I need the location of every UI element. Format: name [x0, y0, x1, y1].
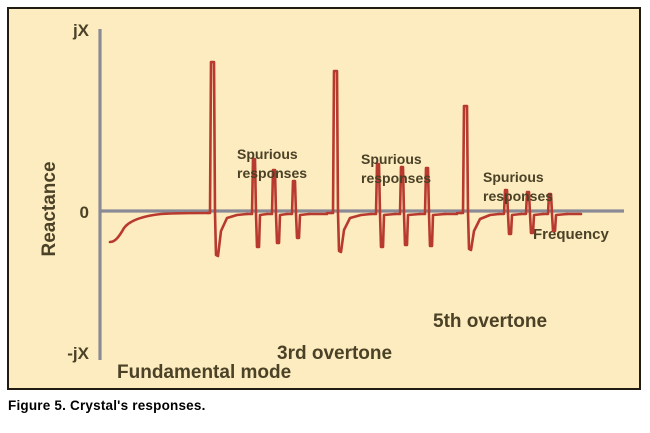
spurious-3-line1: Spurious — [483, 169, 544, 185]
curve-left-baseline — [110, 213, 208, 242]
y-axis-bottom-label: -jX — [67, 344, 89, 363]
label-5th-overtone: 5th overtone — [433, 311, 547, 332]
annotation-spurious-3: Spurious responses — [483, 169, 553, 204]
curve-baseline-1 — [309, 213, 331, 214]
figure-panel: jX 0 -jX Reactance Frequency — [7, 7, 641, 390]
curve-baseline-2 — [445, 213, 461, 214]
reactance-curve — [110, 62, 581, 256]
y-axis-zero-label: 0 — [80, 203, 89, 222]
y-axis-top-label: jX — [72, 21, 90, 40]
spurious-2-line2: responses — [361, 170, 431, 186]
annotation-spurious-2: Spurious responses — [361, 151, 431, 186]
x-axis-title: Frequency — [533, 226, 610, 243]
reactance-plot: jX 0 -jX Reactance Frequency — [9, 9, 639, 388]
annotation-spurious-1: Spurious responses — [237, 146, 307, 181]
figure-container: jX 0 -jX Reactance Frequency — [0, 0, 650, 433]
label-fundamental-mode: Fundamental mode — [117, 362, 291, 383]
label-3rd-overtone: 3rd overtone — [277, 343, 392, 364]
plot-area: jX 0 -jX Reactance Frequency — [9, 9, 639, 388]
figure-caption: Figure 5. Crystal's responses. — [8, 398, 628, 413]
spurious-1-line1: Spurious — [237, 146, 298, 162]
spurious-3-line2: responses — [483, 188, 553, 204]
spurious-2-line1: Spurious — [361, 151, 422, 167]
y-axis-title: Reactance — [39, 161, 60, 256]
spurious-1-line2: responses — [237, 165, 307, 181]
